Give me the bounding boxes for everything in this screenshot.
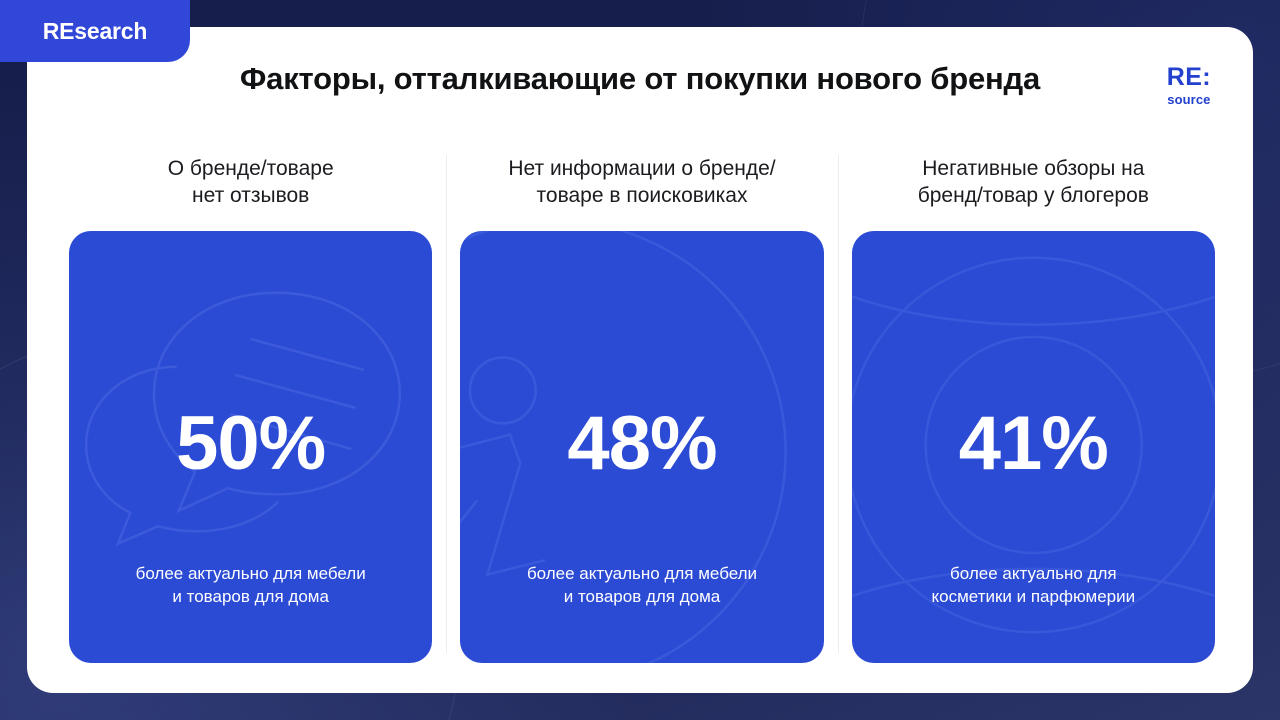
column-header-2: Нет информации о бренде/ товаре в поиско…	[460, 149, 823, 219]
stat-value-3: 41%	[959, 406, 1108, 482]
stat-caption-3: более актуально для косметики и парфюмер…	[868, 563, 1199, 609]
slide-root: Факторы, отталкивающие от покупки нового…	[0, 0, 1280, 720]
stat-caption-2-line2: и товаров для дома	[476, 586, 807, 609]
stat-card-1[interactable]: 50% более актуально для мебели и товаров…	[69, 231, 432, 663]
column-header-1: О бренде/товаре нет отзывов	[69, 149, 432, 219]
column-header-1-line2: нет отзывов	[69, 182, 432, 209]
column-header-3-line2: бренд/товар у блогеров	[852, 182, 1215, 209]
stat-column-2: Нет информации о бренде/ товаре в поиско…	[446, 149, 837, 663]
stat-columns: О бренде/товаре нет отзывов	[55, 149, 1229, 663]
column-header-1-line1: О бренде/товаре	[69, 155, 432, 182]
stat-card-2[interactable]: 48% более актуально для мебели и товаров…	[460, 231, 823, 663]
resource-logo-primary: RE:	[1167, 65, 1211, 90]
stat-caption-1-line1: более актуально для мебели	[85, 563, 416, 586]
column-header-2-line2: товаре в поисковиках	[460, 182, 823, 209]
stat-card-3[interactable]: 41% более актуально для косметики и парф…	[852, 231, 1215, 663]
column-header-3: Негативные обзоры на бренд/товар у блоге…	[852, 149, 1215, 219]
brand-badge[interactable]: REsearch	[0, 0, 190, 62]
column-header-2-line1: Нет информации о бренде/	[460, 155, 823, 182]
stat-caption-1: более актуально для мебели и товаров для…	[85, 563, 416, 609]
stat-value-2: 48%	[567, 406, 716, 482]
stat-caption-2: более актуально для мебели и товаров для…	[476, 563, 807, 609]
stat-caption-3-line1: более актуально для	[868, 563, 1199, 586]
page-title: Факторы, отталкивающие от покупки нового…	[27, 59, 1253, 99]
page-title-text: Факторы, отталкивающие от покупки нового…	[240, 61, 1040, 96]
stat-value-1: 50%	[176, 406, 325, 482]
column-header-3-line1: Негативные обзоры на	[852, 155, 1215, 182]
resource-logo: RE: source	[1167, 65, 1211, 106]
content-panel: Факторы, отталкивающие от покупки нового…	[27, 27, 1253, 693]
stat-column-3: Негативные обзоры на бренд/товар у блоге…	[838, 149, 1229, 663]
brand-badge-label: REsearch	[43, 18, 148, 45]
stat-caption-3-line2: косметики и парфюмерии	[868, 586, 1199, 609]
resource-logo-secondary: source	[1167, 93, 1211, 106]
stat-column-1: О бренде/товаре нет отзывов	[55, 149, 446, 663]
stat-caption-1-line2: и товаров для дома	[85, 586, 416, 609]
stat-caption-2-line1: более актуально для мебели	[476, 563, 807, 586]
